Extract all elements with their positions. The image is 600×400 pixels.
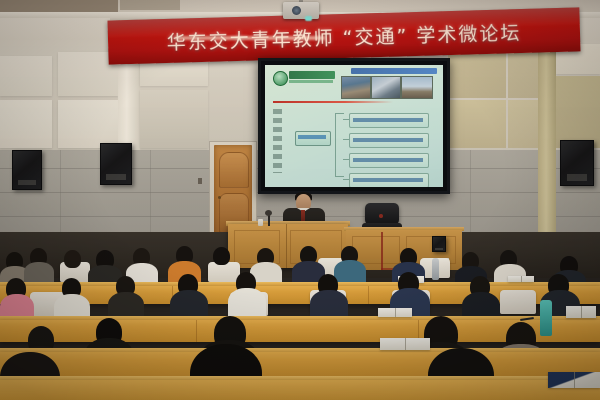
slide-bracket — [335, 113, 344, 177]
slide-item-text — [353, 178, 423, 182]
slide-item-text — [353, 118, 423, 122]
ceiling-projector — [283, 2, 319, 19]
teal-thermos-bottle — [540, 300, 552, 336]
navy-folder — [548, 372, 600, 388]
wall-panel — [508, 50, 540, 98]
slide-item-text — [353, 158, 423, 162]
open-notebook — [378, 308, 412, 317]
slide-center-node-text — [298, 135, 326, 139]
table-panel — [352, 236, 400, 264]
university-logo-icon — [273, 71, 288, 86]
slide-thumbnail-railway — [341, 76, 371, 99]
slide-vertical-label — [273, 109, 282, 173]
slide-thumbnail-bridge — [371, 76, 401, 99]
wall-panel — [140, 90, 208, 148]
desk-seam — [368, 286, 369, 304]
audience-head — [64, 250, 81, 268]
left-wall-loudspeaker — [12, 150, 42, 190]
audience-person — [24, 262, 54, 284]
slide-thumbnail-construction — [401, 76, 433, 99]
door-knob[interactable] — [218, 196, 221, 199]
audience-person — [228, 288, 266, 318]
lecture-hall-photo: 华东交大青年教师 “交通” 学术微论坛 — [0, 0, 600, 400]
ceiling-panel — [120, 0, 180, 10]
metal-thermos — [432, 258, 439, 280]
banner-highlight — [175, 36, 325, 40]
stacked-papers — [566, 306, 596, 318]
slide-item-text — [353, 138, 423, 142]
projection-screen — [258, 58, 450, 194]
wall-panel — [508, 100, 540, 148]
microphone-icon — [265, 210, 272, 216]
paper-cup — [258, 219, 263, 226]
chair-back — [208, 262, 240, 282]
audience-person — [334, 260, 366, 284]
left-center-wall-loudspeaker — [100, 143, 132, 185]
door-panel-upper — [219, 152, 249, 188]
chair-logo-dot — [379, 214, 383, 218]
wall-panel — [448, 50, 506, 98]
university-name-text — [289, 71, 335, 79]
university-name-latin — [289, 80, 333, 83]
floor-equipment-box — [432, 236, 446, 252]
open-notebook — [508, 276, 534, 282]
slide-surface — [265, 65, 443, 187]
wall-panel — [58, 100, 118, 148]
projector-lens-icon — [292, 6, 301, 15]
projector-indicator-light — [305, 16, 312, 21]
open-notebook — [380, 338, 430, 350]
wall-panel — [556, 76, 600, 148]
power-cable — [381, 232, 383, 270]
chair-back — [500, 290, 536, 314]
desk-seam — [196, 320, 197, 342]
wall-panel — [0, 56, 52, 96]
audience-desk-foreground — [0, 380, 600, 400]
slide-header-title — [351, 68, 437, 74]
light-switch[interactable] — [198, 178, 202, 184]
podium-seam — [286, 224, 287, 268]
slide-divider — [273, 101, 393, 103]
wall-panel — [448, 100, 506, 148]
wall-panel — [0, 100, 52, 148]
right-wall-loudspeaker — [560, 140, 594, 186]
audience-head — [213, 247, 230, 265]
